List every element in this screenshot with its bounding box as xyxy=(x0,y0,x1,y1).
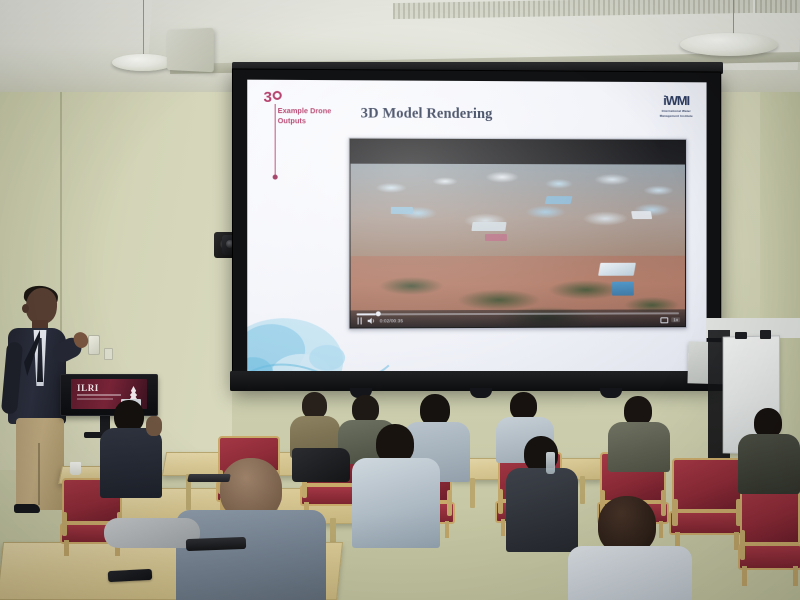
power-outlet[interactable] xyxy=(104,348,113,360)
ilri-logo-text: ILRI xyxy=(77,383,99,393)
video-controls-bar[interactable]: 0:02/00:35 1x xyxy=(351,309,685,327)
volume-icon[interactable] xyxy=(368,317,376,325)
audience-torso xyxy=(738,434,800,494)
slide-section-number: 3 xyxy=(263,90,281,105)
phone xyxy=(108,569,153,582)
video-roof-highlight xyxy=(545,196,573,204)
audience-torso xyxy=(568,546,692,600)
captions-icon[interactable] xyxy=(661,317,669,323)
audience-head xyxy=(302,392,327,419)
audience-member xyxy=(352,424,440,544)
presenter-trousers xyxy=(16,418,64,510)
video-roof-highlight xyxy=(485,233,507,240)
audience-member-foreground xyxy=(568,496,692,600)
pendant-wire-left xyxy=(143,0,144,60)
audience-torso xyxy=(100,428,162,498)
presenter-ear xyxy=(22,304,29,313)
audience-torso xyxy=(176,510,326,600)
iwmi-logo-mark: iWMI xyxy=(660,94,693,107)
video-roof-highlight xyxy=(631,211,652,219)
pendant-light-right xyxy=(680,33,778,56)
presenter-leg-seam xyxy=(38,443,40,505)
conference-room-scene: 3 Example Drone Outputs 3D Model Renderi… xyxy=(0,0,800,600)
audience-torso xyxy=(608,422,670,472)
slide-kicker: Example Drone Outputs xyxy=(278,106,345,127)
video-surface[interactable]: 0:02/00:35 1x xyxy=(351,140,685,328)
ceiling-vent-secondary-icon xyxy=(755,0,800,13)
pendant-light-left xyxy=(112,54,174,71)
video-roof-highlight xyxy=(598,263,636,276)
audience-member xyxy=(738,408,800,490)
audience-torso xyxy=(352,458,440,548)
audience-member xyxy=(290,392,340,454)
light-switch[interactable] xyxy=(88,335,100,355)
section-number-ring-icon xyxy=(272,91,281,100)
audience-hand xyxy=(146,416,162,436)
iwmi-logo-subtitle-2: Management Institute xyxy=(660,113,693,118)
audience-head xyxy=(352,395,379,423)
video-roof-highlight xyxy=(471,222,506,231)
water-bottle xyxy=(546,452,555,474)
slide-accent-line xyxy=(275,104,276,177)
section-number-text: 3 xyxy=(263,90,271,105)
video-roof-highlight xyxy=(391,207,413,214)
wall-speaker-icon xyxy=(167,28,214,73)
backpack xyxy=(292,448,350,482)
presentation-slide: 3 Example Drone Outputs 3D Model Renderi… xyxy=(247,80,706,379)
playback-speed-label[interactable]: 1x xyxy=(671,317,680,322)
iwmi-logo: iWMI International Water Management Inst… xyxy=(660,94,693,118)
cup xyxy=(70,462,81,475)
video-roof-highlight xyxy=(612,282,634,296)
table-leg xyxy=(470,478,475,508)
flipchart-clip-icon xyxy=(760,330,771,339)
pause-icon[interactable] xyxy=(356,317,364,325)
glasses-on-table xyxy=(186,537,246,551)
video-timestamp: 0:02/00:35 xyxy=(380,318,403,323)
laptop xyxy=(187,474,231,482)
presenter-shoe xyxy=(14,504,40,513)
slide-accent-dot-icon xyxy=(273,175,278,180)
audience-head xyxy=(510,392,537,420)
chair xyxy=(740,486,800,586)
audience-member xyxy=(100,400,162,494)
projector-screen: 3 Example Drone Outputs 3D Model Renderi… xyxy=(232,68,721,389)
video-player[interactable]: 0:02/00:35 1x xyxy=(349,138,687,330)
slide-title: 3D Model Rendering xyxy=(361,105,493,123)
audience-member xyxy=(608,396,670,466)
ilri-banner-line xyxy=(77,394,121,396)
flipchart-clip-icon xyxy=(735,332,747,339)
